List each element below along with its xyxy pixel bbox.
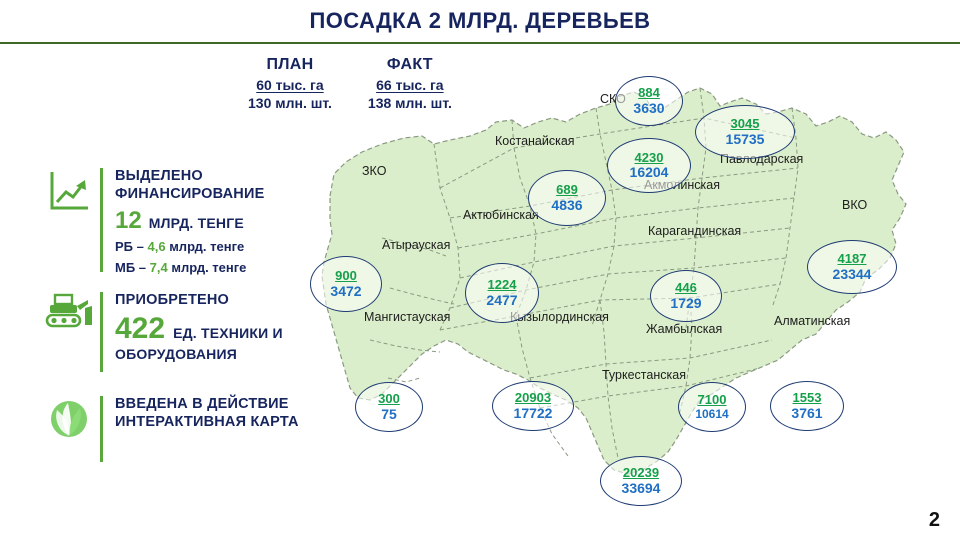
- bubble-value-trees-shymkent: 33694: [622, 481, 661, 496]
- sub-local-label: МБ –: [115, 260, 146, 275]
- bubble-value-planted-turkestan: 7100: [698, 393, 727, 407]
- region-label-vko: ВКО: [842, 198, 867, 212]
- data-bubble-shymkent[interactable]: 20239 33694: [600, 456, 682, 506]
- info-text-financing: ВЫДЕЛЕНО ФИНАНСИРОВАНИЕ 12 МЛРД. ТЕНГЕ Р…: [103, 168, 264, 276]
- info-block-financing: ВЫДЕЛЕНО ФИНАНСИРОВАНИЕ 12 МЛРД. ТЕНГЕ Р…: [38, 168, 264, 276]
- bubble-value-planted-kostanay: 689: [556, 183, 578, 197]
- sub-local-unit: млрд. тенге: [171, 260, 246, 275]
- bubble-value-planted-akmola: 4230: [635, 151, 664, 165]
- bulldozer-icon: [38, 292, 100, 332]
- financing-title-line1: ВЫДЕЛЕНО: [115, 168, 264, 186]
- bubble-value-planted-vko: 4187: [838, 252, 867, 266]
- data-bubble-aktobe[interactable]: 1224 2477: [465, 263, 539, 323]
- financing-value: 12: [115, 207, 142, 235]
- equipment-unit-line2: ОБОРУДОВАНИЯ: [115, 346, 283, 362]
- region-label-zhambyl: Жамбылская: [646, 322, 722, 336]
- bubble-value-trees-akmola: 16204: [630, 165, 669, 180]
- data-bubble-turkestan[interactable]: 7100 10614: [678, 382, 746, 432]
- data-bubble-karaganda[interactable]: 446 1729: [650, 270, 722, 322]
- bubble-value-trees-mangystau: 75: [381, 407, 397, 422]
- region-label-zko: ЗКО: [362, 164, 386, 178]
- data-bubble-almaty[interactable]: 1553 3761: [770, 381, 844, 431]
- bubble-value-trees-vko: 23344: [833, 267, 872, 282]
- bubble-value-trees-aktobe: 2477: [486, 293, 517, 308]
- title-bar: ПОСАДКА 2 МЛРД. ДЕРЕВЬЕВ: [0, 0, 960, 42]
- kazakhstan-map[interactable]: ЗКО Костанайская СКО Павлодарская Акмоли…: [300, 78, 960, 522]
- region-label-karaganda: Карагандинская: [648, 224, 741, 238]
- equipment-title: ПРИОБРЕТЕНО: [115, 292, 283, 310]
- bubble-value-planted-atyrau: 900: [335, 269, 357, 283]
- info-block-equipment: ПРИОБРЕТЕНО 422 ЕД. ТЕХНИКИ И ОБОРУДОВАН…: [38, 292, 283, 378]
- bubble-value-planted-pavlodar: 3045: [731, 117, 760, 131]
- bubble-value-trees-pavlodar: 15735: [726, 132, 765, 147]
- financing-title-line2: ФИНАНСИРОВАНИЕ: [115, 186, 264, 204]
- sub-local-value: 7,4: [150, 260, 168, 275]
- bubble-value-trees-turkestan: 10614: [695, 408, 728, 421]
- map-title-line2: ИНТЕРАКТИВНАЯ КАРТА: [115, 414, 299, 432]
- data-bubble-pavlodar[interactable]: 3045 15735: [695, 105, 795, 159]
- data-bubble-kyzylorda[interactable]: 20903 17722: [492, 381, 574, 431]
- bubble-value-trees-sko: 3630: [633, 101, 664, 116]
- data-bubble-kostanay[interactable]: 689 4836: [528, 170, 606, 226]
- sub-republic-label: РБ –: [115, 239, 144, 254]
- info-text-interactive-map: ВВЕДЕНА В ДЕЙСТВИЕ ИНТЕРАКТИВНАЯ КАРТА: [103, 396, 299, 431]
- info-block-interactive-map: ВВЕДЕНА В ДЕЙСТВИЕ ИНТЕРАКТИВНАЯ КАРТА: [38, 396, 299, 472]
- region-label-kostanay: Костанайская: [495, 134, 575, 148]
- equipment-value: 422: [115, 312, 165, 346]
- data-bubble-sko[interactable]: 884 3630: [615, 76, 683, 126]
- bubble-value-planted-karaganda: 446: [675, 281, 697, 295]
- bubble-value-planted-almaty: 1553: [793, 391, 822, 405]
- region-label-atyrau: Атырауская: [382, 238, 450, 252]
- plan-heading: ПЛАН: [248, 56, 332, 74]
- region-label-almaty: Алматинская: [774, 314, 850, 328]
- title-divider: [0, 42, 960, 44]
- financing-sub-republic: РБ – 4,6 млрд. тенге: [115, 238, 264, 256]
- bubble-value-trees-atyrau: 3472: [330, 284, 361, 299]
- data-bubble-mangystau[interactable]: 300 75: [355, 382, 423, 432]
- bubble-value-trees-almaty: 3761: [791, 406, 822, 421]
- data-bubble-atyrau[interactable]: 900 3472: [310, 256, 382, 312]
- fact-heading: ФАКТ: [368, 56, 452, 74]
- bubble-value-trees-kyzylorda: 17722: [514, 406, 553, 421]
- bubble-value-planted-aktobe: 1224: [488, 278, 517, 292]
- data-bubble-akmola[interactable]: 4230 16204: [607, 138, 691, 193]
- bubble-value-planted-kyzylorda: 20903: [515, 391, 551, 405]
- equipment-unit-line1: ЕД. ТЕХНИКИ И: [173, 325, 283, 341]
- region-label-aktobe: Актюбинская: [463, 208, 539, 222]
- page-title: ПОСАДКА 2 МЛРД. ДЕРЕВЬЕВ: [310, 8, 651, 34]
- sub-republic-value: 4,6: [147, 239, 165, 254]
- leaf-circle-icon: [38, 396, 100, 442]
- bubble-value-planted-sko: 884: [638, 86, 660, 100]
- info-text-equipment: ПРИОБРЕТЕНО 422 ЕД. ТЕХНИКИ И ОБОРУДОВАН…: [103, 292, 283, 362]
- growth-chart-icon: [38, 168, 100, 214]
- region-label-turkestan: Туркестанская: [602, 368, 686, 382]
- map-title-line1: ВВЕДЕНА В ДЕЙСТВИЕ: [115, 396, 299, 414]
- slide-root: ПОСАДКА 2 МЛРД. ДЕРЕВЬЕВ ПЛАН 60 тыс. га…: [0, 0, 960, 540]
- page-number: 2: [929, 509, 940, 532]
- data-bubble-vko[interactable]: 4187 23344: [807, 240, 897, 294]
- financing-sub-local: МБ – 7,4 млрд. тенге: [115, 259, 264, 277]
- bubble-value-planted-shymkent: 20239: [623, 466, 659, 480]
- bubble-value-trees-kostanay: 4836: [551, 198, 582, 213]
- financing-unit: МЛРД. ТЕНГЕ: [149, 215, 244, 231]
- bubble-value-trees-karaganda: 1729: [670, 296, 701, 311]
- bubble-value-planted-mangystau: 300: [378, 392, 400, 406]
- region-label-mangystau: Мангистауская: [364, 310, 450, 324]
- sub-republic-unit: млрд. тенге: [169, 239, 244, 254]
